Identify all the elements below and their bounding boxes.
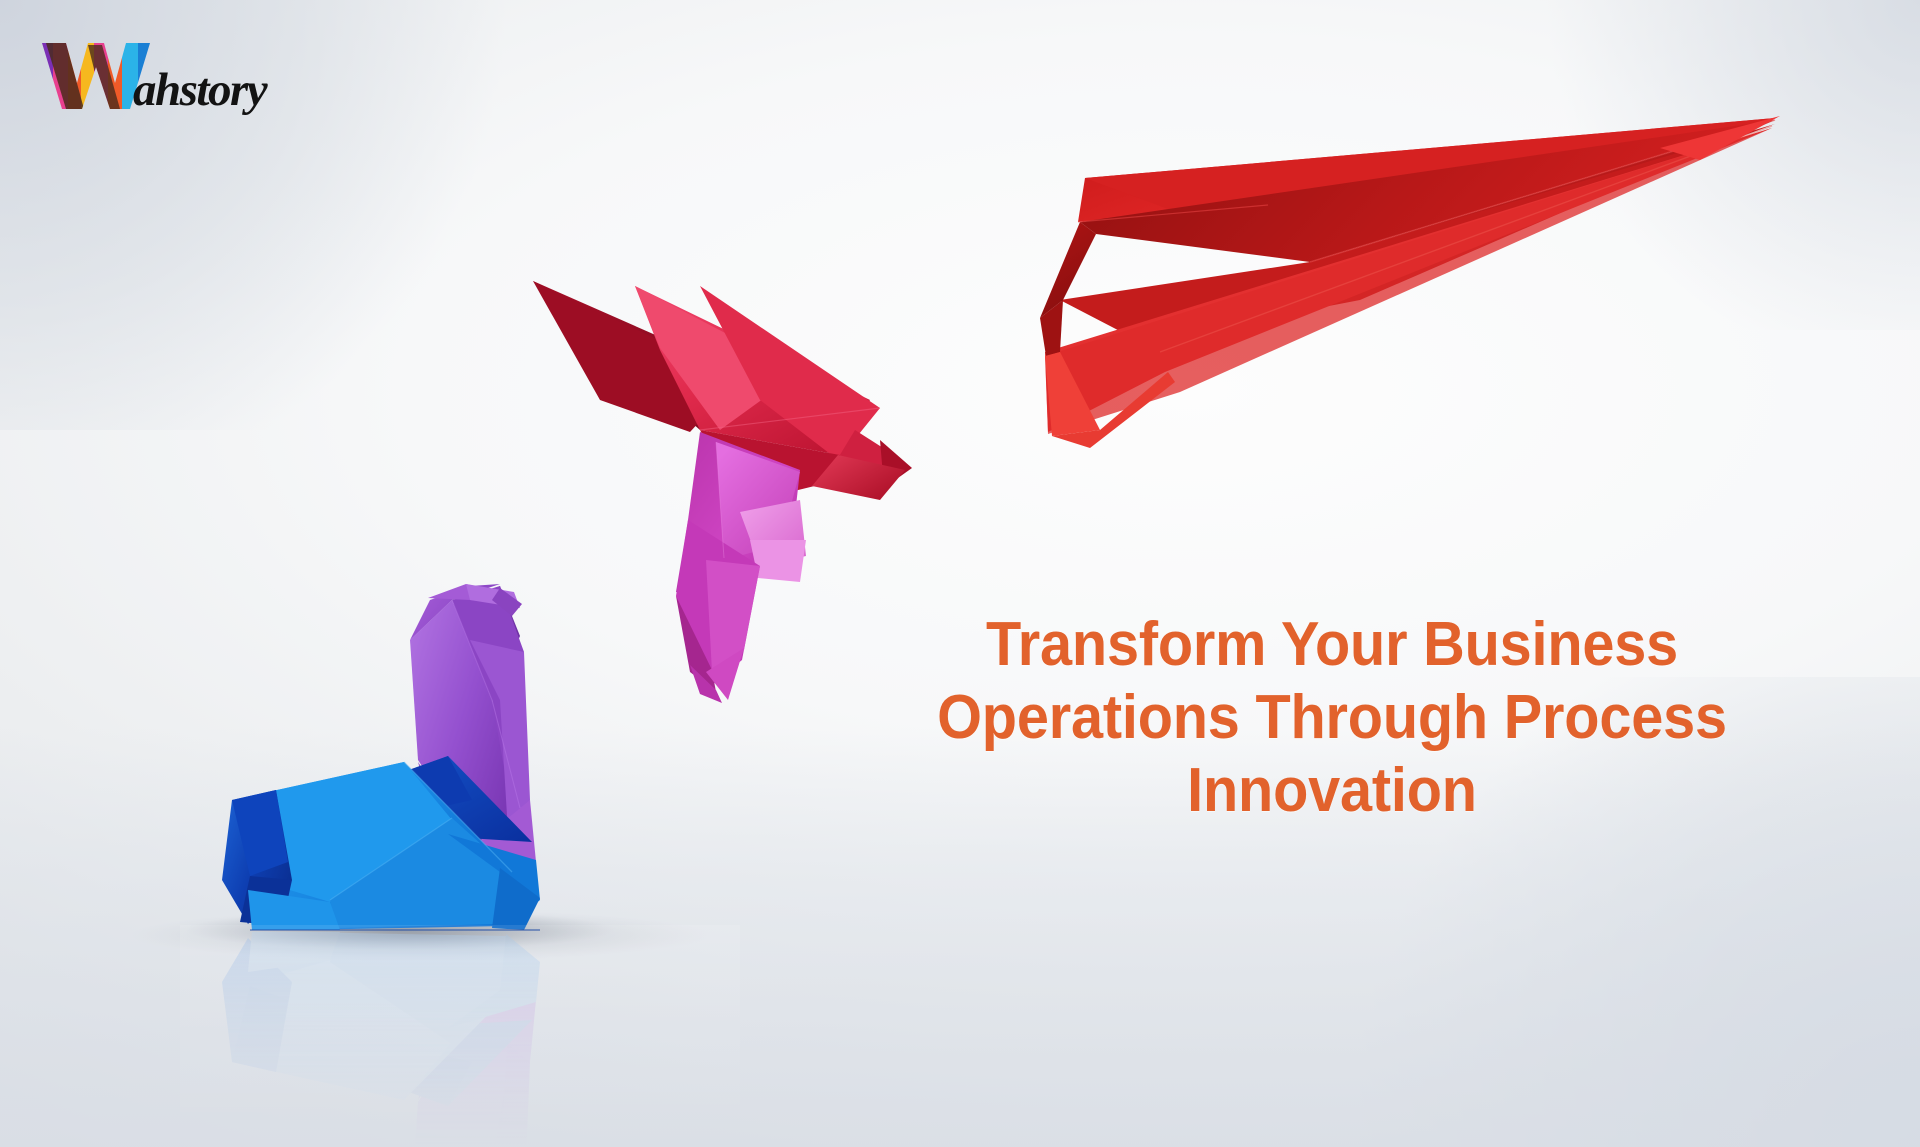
origami-swan-reflection xyxy=(222,932,540,1147)
headline-line-3: Innovation xyxy=(882,754,1782,827)
hero-headline: Transform Your Business Operations Throu… xyxy=(882,608,1782,827)
origami-artwork xyxy=(0,0,1920,1147)
paper-plane-figure xyxy=(1040,116,1780,448)
swan-shadow xyxy=(185,910,615,950)
swan-shadow-soft xyxy=(130,909,710,961)
logo-wordmark: ahstory xyxy=(133,64,268,116)
headline-line-1: Transform Your Business xyxy=(882,608,1782,681)
background-corner-top-right xyxy=(1500,0,1920,330)
origami-swan-figure xyxy=(222,584,540,930)
hero-banner: ahstory Transform Your Business Operatio… xyxy=(0,0,1920,1147)
headline-line-2: Operations Through Process xyxy=(882,681,1782,754)
origami-bird-figure xyxy=(533,274,912,703)
brand-logo[interactable]: ahstory xyxy=(36,33,276,119)
